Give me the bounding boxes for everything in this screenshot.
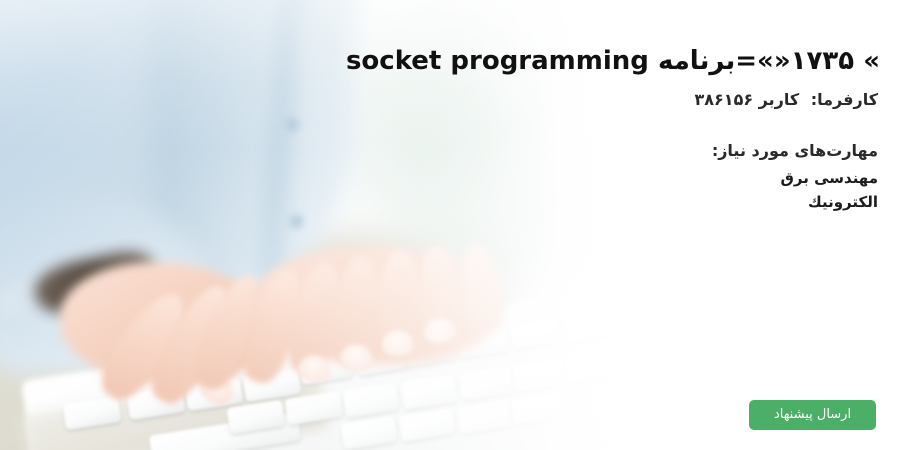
- card-content: » ۱۷۳۵«»=برنامه socket programming کارفر…: [0, 0, 900, 450]
- job-title: » ۱۷۳۵«»=برنامه socket programming: [280, 45, 880, 79]
- required-skills-label: مهارت‌های مورد نیاز:: [712, 138, 878, 164]
- employer-row: کارفرما: کاربر ۳۸۶۱۵۶: [695, 88, 879, 112]
- submit-proposal-button[interactable]: ارسال پیشنهاد: [749, 400, 876, 430]
- skill-item: مهندسی برق: [712, 166, 878, 190]
- employer-label: کارفرما:: [811, 90, 878, 109]
- skill-item: الکترونيك: [712, 190, 878, 214]
- employer-name: کاربر ۳۸۶۱۵۶: [695, 90, 800, 109]
- required-skills-section: مهارت‌های مورد نیاز: مهندسی برق الکتروني…: [712, 138, 878, 215]
- job-listing-card: » ۱۷۳۵«»=برنامه socket programming کارفر…: [0, 0, 900, 450]
